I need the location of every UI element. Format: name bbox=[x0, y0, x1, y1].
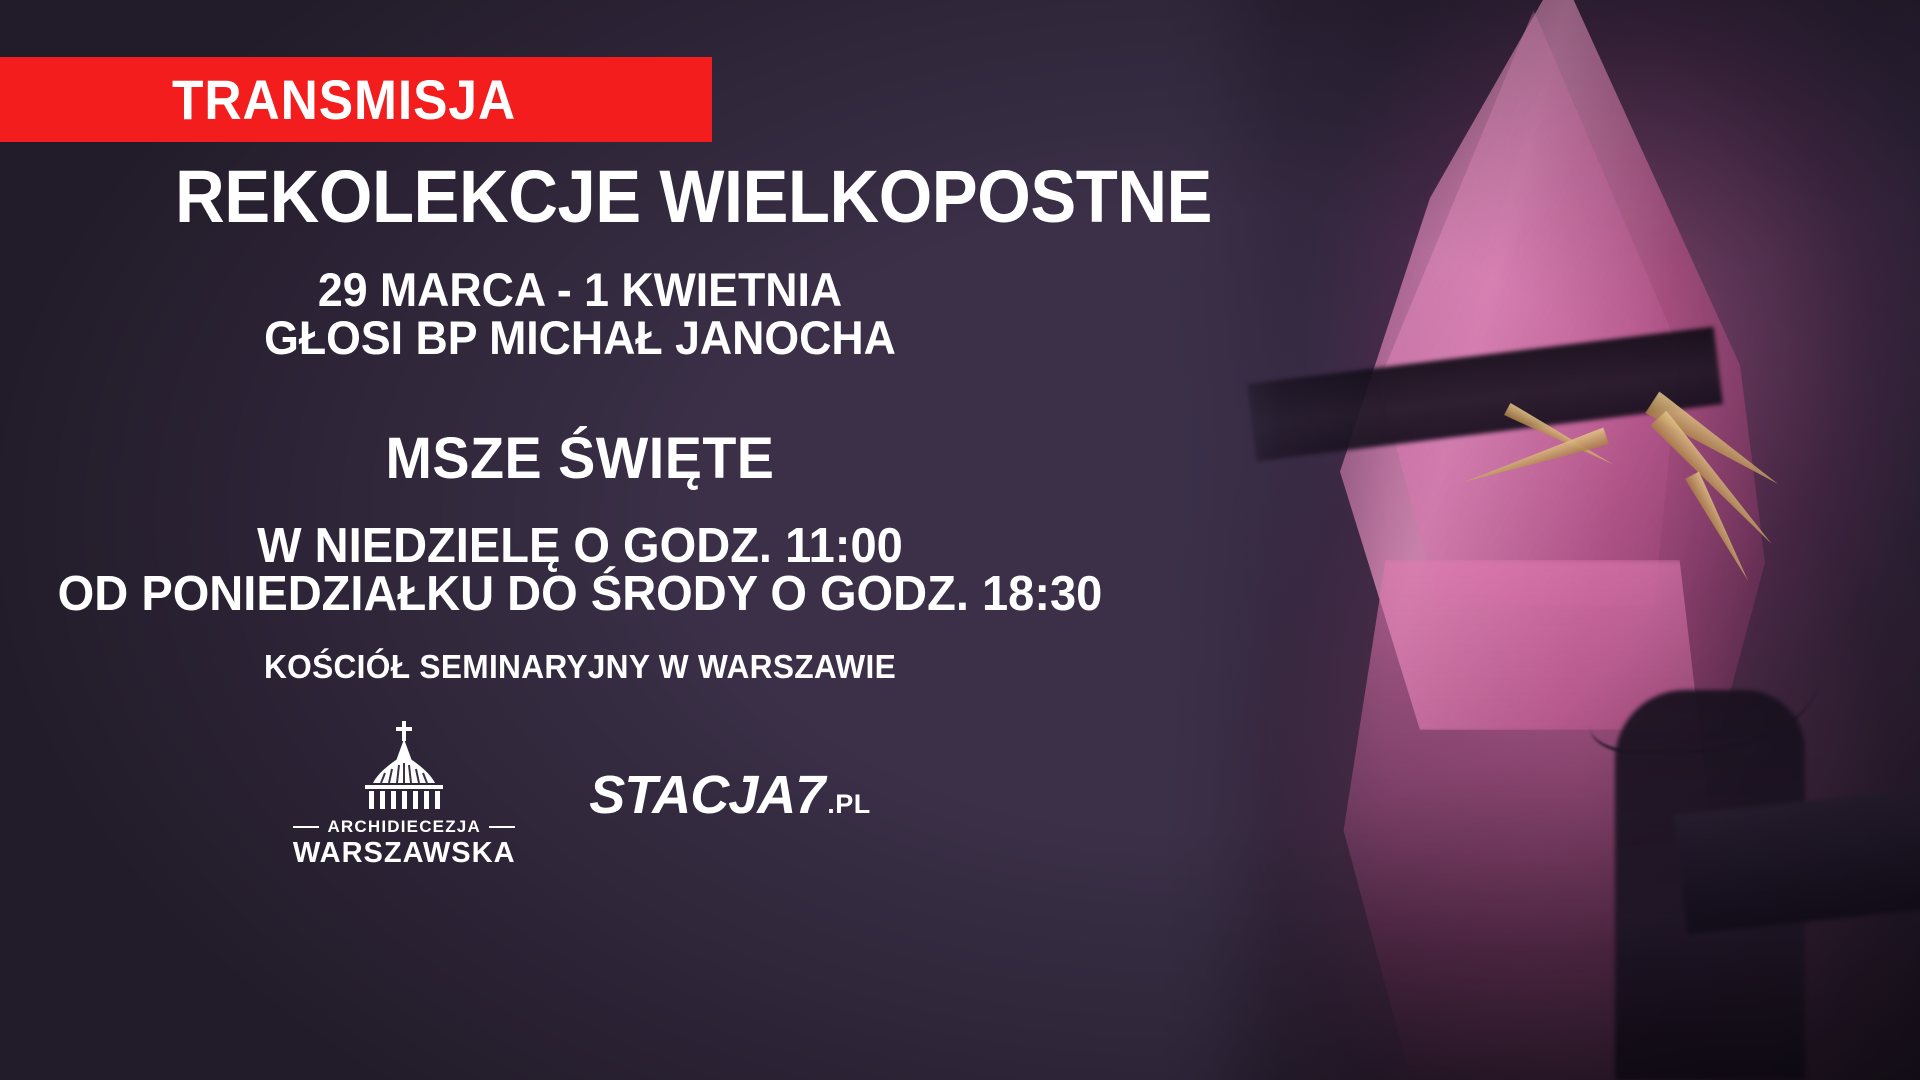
photo-shard-5 bbox=[1685, 471, 1755, 584]
stacja7-tld: .PL bbox=[827, 789, 871, 820]
stacja7-numeral: 7 bbox=[795, 764, 825, 826]
church-location: KOŚCIÓŁ SEMINARYJNY W WARSZAWIE bbox=[23, 648, 1137, 686]
stacja7-word: STACJA bbox=[589, 764, 795, 826]
logo-row: ARCHIDIECEZJA WARSZAWSKA STACJA 7 .PL bbox=[0, 715, 1160, 875]
mass-time-weekdays: OD PONIEDZIAŁKU DO ŚRODY O GODZ. 18:30 bbox=[23, 566, 1137, 622]
photo-ledge bbox=[1674, 786, 1920, 935]
retreat-preacher: GŁOSI BP MICHAŁ JANOCHA bbox=[29, 310, 1131, 365]
photo-shard-4 bbox=[1650, 410, 1780, 551]
poster-content: REKOLEKCJE WIELKOPOSTNE 29 MARCA - 1 KWI… bbox=[0, 0, 1180, 1080]
photo-silhouette bbox=[1615, 690, 1805, 1080]
archdiocese-line2: WARSZAWSKA bbox=[293, 838, 516, 868]
photo-dark-band bbox=[1247, 327, 1723, 462]
photo-shard-1 bbox=[1504, 403, 1617, 472]
photo-drapery bbox=[1310, 560, 1730, 1080]
masses-heading: MSZE ŚWIĘTE bbox=[23, 425, 1137, 492]
photo-cable bbox=[1590, 620, 1820, 754]
archdiocese-rule: ARCHIDIECEZJA bbox=[293, 817, 515, 837]
retreat-dates: 29 MARCA - 1 KWIETNIA bbox=[29, 262, 1131, 317]
archdiocese-line1: ARCHIDIECEZJA bbox=[327, 817, 481, 837]
photo-cone-shape bbox=[1280, 0, 1780, 730]
stacja7-logo: STACJA 7 .PL bbox=[589, 764, 871, 826]
poster-canvas: TRANSMISJA REKOLEKCJE WIELKOPOSTNE 29 MA… bbox=[0, 0, 1920, 1080]
church-cross-icon bbox=[329, 721, 479, 813]
archdiocese-logo: ARCHIDIECEZJA WARSZAWSKA bbox=[289, 721, 519, 868]
photo-shard-2 bbox=[1461, 427, 1609, 490]
photo-cone-highlight bbox=[1310, 10, 1740, 630]
page-title: REKOLEKCJE WIELKOPOSTNE bbox=[175, 160, 1068, 234]
background-photo bbox=[1160, 0, 1920, 1080]
rule-dash-left bbox=[293, 826, 319, 828]
photo-shard-3 bbox=[1645, 391, 1785, 495]
rule-dash-right bbox=[489, 826, 515, 828]
